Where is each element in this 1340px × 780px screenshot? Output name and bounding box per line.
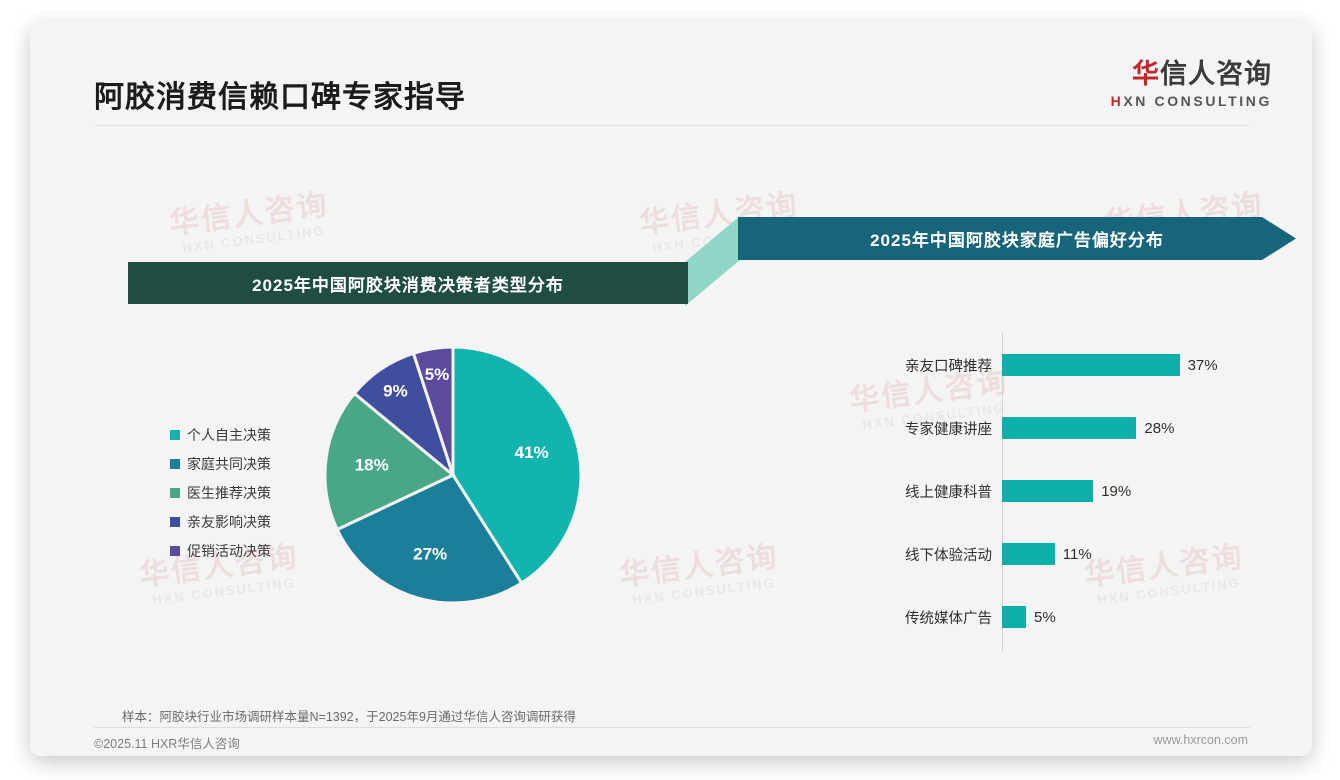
bar-row[interactable]: 线上健康科普 19%: [820, 476, 1131, 506]
legend-item-label: 家庭共同决策: [187, 454, 271, 474]
bar-row-value: 5%: [1034, 609, 1056, 626]
slide-canvas: 华信人咨询 HXN CONSULTING 华信人咨询 HXN CONSULTIN…: [30, 22, 1312, 756]
brand-logo-en-rest: XN CONSULTING: [1123, 93, 1272, 109]
slide-header: 阿胶消费信赖口碑专家指导 华信人咨询 HXN CONSULTING: [30, 22, 1312, 126]
bar-row-value: 19%: [1101, 483, 1131, 500]
banner-connector: [685, 216, 745, 306]
brand-logo-cn-highlight: 华: [1132, 59, 1160, 89]
legend-item[interactable]: 医生推荐决策: [170, 478, 300, 507]
source-footnote: 样本：阿胶块行业市场调研样本量N=1392，于2025年9月通过华信人咨询调研获…: [122, 706, 576, 725]
pie-chart-panel: 个人自主决策 家庭共同决策 医生推荐决策 亲友影响决策 促销活动决策 41%27…: [128, 322, 688, 662]
bar-row-label: 线下体验活动: [820, 544, 1002, 565]
bar-fill: [1002, 606, 1026, 628]
watermark: 华信人咨询 HXN CONSULTING: [168, 190, 333, 256]
bar-row[interactable]: 亲友口碑推荐 37%: [820, 350, 1218, 380]
legend-item-label: 促销活动决策: [187, 541, 271, 561]
header-divider: [94, 125, 1250, 126]
legend-item-label: 医生推荐决策: [187, 483, 271, 503]
bar-fill: [1002, 543, 1055, 565]
banner-pie-title-label: 2025年中国阿胶块消费决策者类型分布: [252, 271, 564, 296]
legend-swatch-icon: [170, 517, 180, 527]
brand-logo-cn: 华信人咨询: [1111, 60, 1272, 90]
banner-bar-title-label: 2025年中国阿胶块家庭广告偏好分布: [870, 226, 1164, 251]
legend-item[interactable]: 促销活动决策: [170, 536, 300, 565]
bar-fill: [1002, 417, 1136, 439]
pie-slice-value: 5%: [425, 365, 450, 384]
pie-slice-value: 18%: [355, 456, 389, 475]
legend-item[interactable]: 个人自主决策: [170, 420, 300, 449]
footer-copyright: ©2025.11 HXR华信人咨询: [94, 733, 240, 752]
brand-logo-en: HXN CONSULTING: [1111, 93, 1272, 109]
pie-slice-value: 9%: [383, 381, 408, 400]
legend-item[interactable]: 家庭共同决策: [170, 449, 300, 478]
legend-item-label: 亲友影响决策: [187, 512, 271, 532]
bar-row-value: 37%: [1188, 357, 1218, 374]
pie-legend: 个人自主决策 家庭共同决策 医生推荐决策 亲友影响决策 促销活动决策: [170, 420, 300, 565]
bar-fill: [1002, 480, 1093, 502]
watermark-en: HXN CONSULTING: [182, 222, 333, 255]
page-title: 阿胶消费信赖口碑专家指导: [94, 72, 466, 116]
pie-chart: 41%27%18%9%5%: [318, 340, 588, 610]
bar-row-label: 传统媒体广告: [820, 607, 1002, 628]
bar-row[interactable]: 传统媒体广告 5%: [820, 602, 1056, 632]
legend-swatch-icon: [170, 488, 180, 498]
bar-row-value: 11%: [1063, 546, 1092, 563]
bar-row[interactable]: 专家健康讲座 28%: [820, 413, 1174, 443]
legend-item[interactable]: 亲友影响决策: [170, 507, 300, 536]
legend-item-label: 个人自主决策: [187, 425, 271, 445]
brand-logo-cn-rest: 信人咨询: [1160, 59, 1272, 89]
slide-footer: ©2025.11 HXR华信人咨询 www.hxrcon.com: [30, 728, 1312, 756]
bar-row-label: 线上健康科普: [820, 481, 1002, 502]
bar-row-value: 28%: [1144, 420, 1174, 437]
bar-row[interactable]: 线下体验活动 11%: [820, 539, 1092, 569]
watermark-cn: 华信人咨询: [168, 190, 330, 239]
bar-row-label: 专家健康讲座: [820, 418, 1002, 439]
bar-row-label: 亲友口碑推荐: [820, 355, 1002, 376]
pie-slice-value: 41%: [515, 443, 549, 462]
legend-swatch-icon: [170, 546, 180, 556]
bar-chart-panel: 亲友口碑推荐 37% 专家健康讲座 28% 线上健康科普 19% 线下体验活动 …: [820, 322, 1260, 667]
legend-swatch-icon: [170, 459, 180, 469]
pie-slice-value: 27%: [413, 545, 447, 564]
banner-pie-title: 2025年中国阿胶块消费决策者类型分布: [128, 262, 688, 304]
brand-logo-en-highlight: H: [1111, 93, 1124, 109]
banner-bar-title: 2025年中国阿胶块家庭广告偏好分布: [738, 217, 1296, 260]
pie-slices: [325, 347, 581, 603]
bar-fill: [1002, 354, 1180, 376]
brand-logo: 华信人咨询 HXN CONSULTING: [1111, 60, 1272, 109]
footer-website[interactable]: www.hxrcon.com: [1154, 733, 1248, 747]
legend-swatch-icon: [170, 430, 180, 440]
